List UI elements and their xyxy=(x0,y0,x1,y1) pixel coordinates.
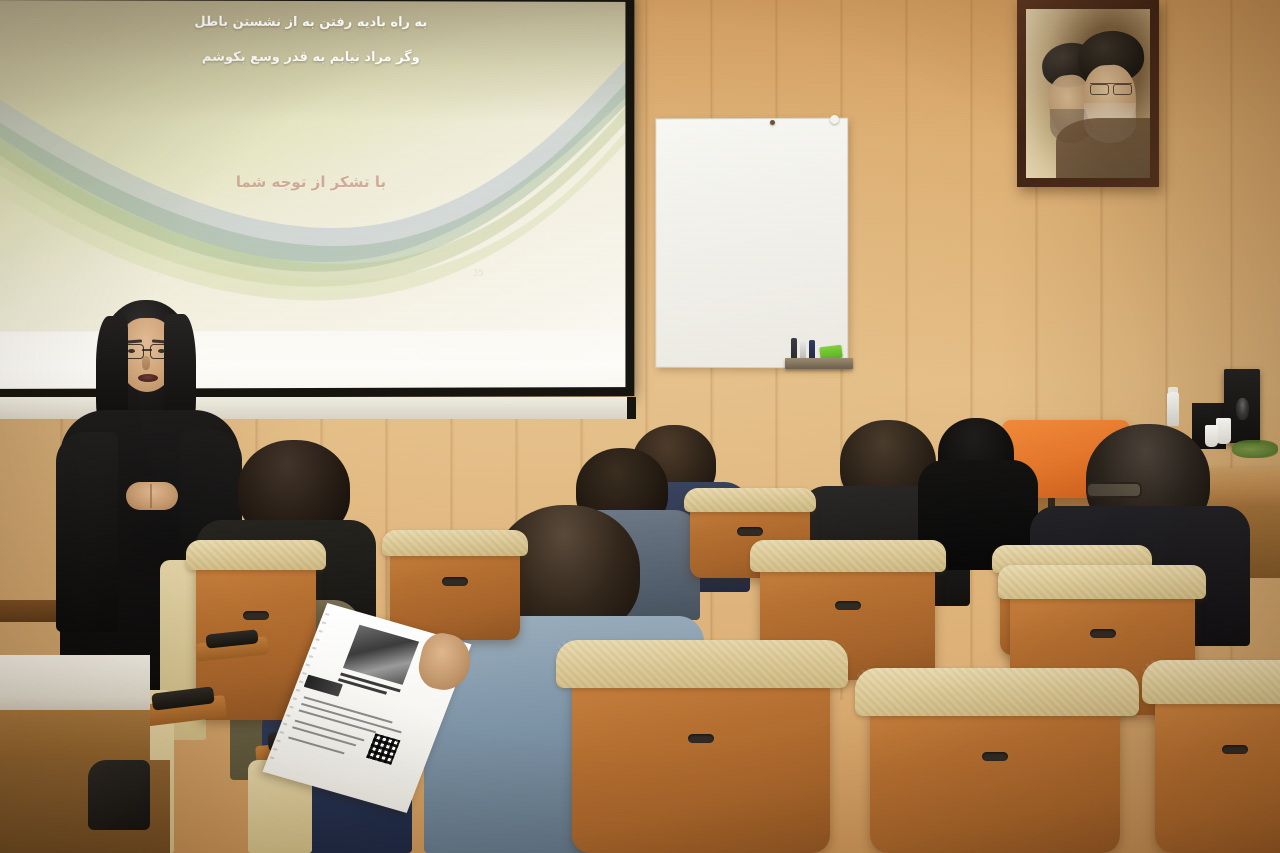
seat-front-1-pad xyxy=(556,640,848,688)
brochure-text-line-1 xyxy=(304,696,393,723)
slide-verse-line-2: وگر مراد نیابم به قدر وسع بکوشم xyxy=(0,49,625,65)
brochure-text-line-2 xyxy=(301,703,402,733)
slide-background: به راه بادیه رفتن به از نشستن باطل وگر م… xyxy=(0,0,625,332)
seat-mid-1-pad xyxy=(750,540,946,572)
step-riser-top xyxy=(0,655,150,715)
brochure-logo xyxy=(304,675,343,697)
seat-back-1-pad xyxy=(684,488,816,512)
speaker-cone-icon xyxy=(1236,398,1249,420)
plant-decoration xyxy=(1232,440,1278,458)
portrait-glass-reflection xyxy=(1026,9,1150,178)
seat-front-1 xyxy=(572,672,830,853)
presenter-nose xyxy=(142,356,150,370)
presenter-hand-divider xyxy=(150,484,152,508)
seat-left-back-pad xyxy=(186,540,326,570)
seat-front-2 xyxy=(870,700,1120,853)
seat-front-3-pad xyxy=(1142,660,1280,704)
whiteboard xyxy=(655,118,848,369)
whiteboard-bracket-right xyxy=(830,115,839,124)
whiteboard-bracket-left xyxy=(770,120,775,125)
blue-marker-icon xyxy=(809,340,815,360)
seat-mid-2-pad xyxy=(998,565,1206,599)
seat-front-3 xyxy=(1155,690,1280,853)
attendee-shoe xyxy=(88,760,150,830)
black-marker-icon xyxy=(791,338,797,360)
slide-thanks-text: با تشکر از توجه شما xyxy=(0,173,625,191)
slide-verse-line-1: به راه بادیه رفتن به از نشستن باطل xyxy=(0,14,625,31)
whiteboard-marker-tray xyxy=(785,358,853,369)
photo-scene: به راه بادیه رفتن به از نشستن باطل وگر م… xyxy=(0,0,1280,853)
brochure-qr-code xyxy=(366,733,400,765)
seat-mid-0-pad xyxy=(382,530,528,556)
paper-cup-2 xyxy=(1205,425,1218,447)
presenter-mouth xyxy=(138,374,158,382)
attendee-glasses-icon xyxy=(1086,482,1142,498)
framed-portrait xyxy=(1017,0,1159,187)
water-bottle xyxy=(1167,392,1179,426)
paper-cup-1 xyxy=(1216,418,1231,444)
presenter-arm-left xyxy=(56,432,118,632)
seat-front-2-pad xyxy=(855,668,1139,716)
portrait-image xyxy=(1026,9,1150,178)
presenter-hands xyxy=(126,482,178,510)
slide-page-number: 35 xyxy=(473,269,484,279)
